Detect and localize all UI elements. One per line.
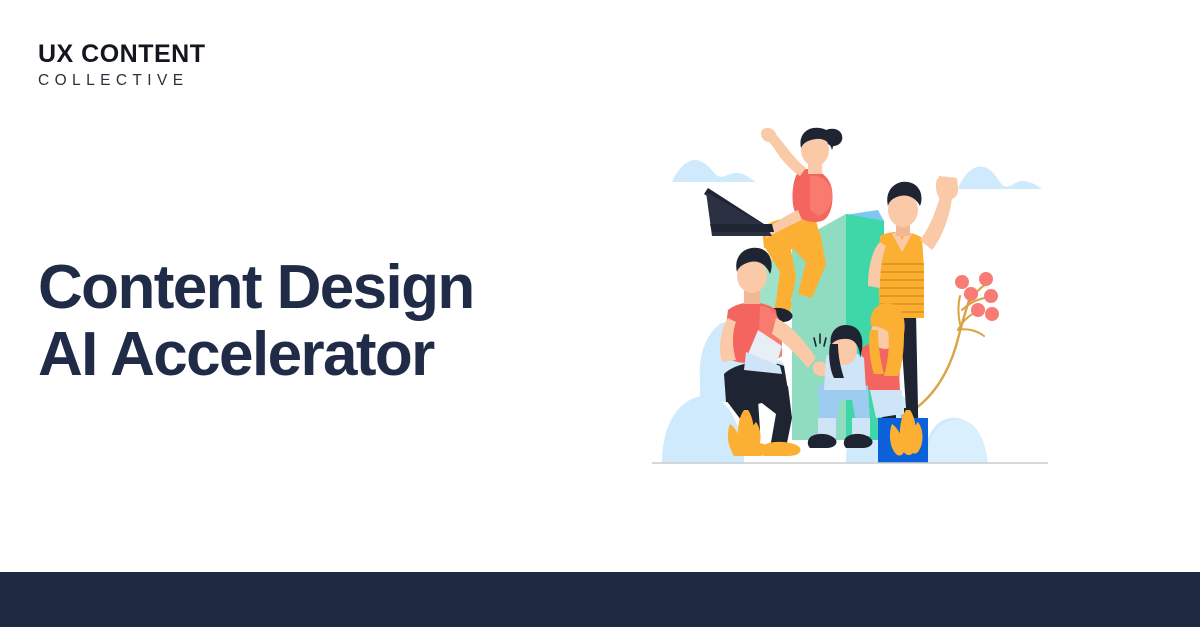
headline-line-2: AI Accelerator	[38, 322, 474, 389]
ux-content-collective-logo[interactable]: UX CONTENT COLLECTIVE	[38, 42, 206, 89]
cloud-top-left	[672, 160, 756, 182]
bottom-bar	[0, 572, 1200, 627]
cloud-top-right	[958, 167, 1042, 189]
headline-line-1: Content Design	[38, 255, 474, 322]
team-celebration-illustration	[640, 118, 1060, 478]
logo-line-primary: UX CONTENT	[38, 42, 206, 67]
banner: UX CONTENT COLLECTIVE Content Design AI …	[0, 0, 1200, 627]
logo-line-secondary: COLLECTIVE	[38, 73, 206, 89]
page-title: Content Design AI Accelerator	[38, 255, 474, 389]
